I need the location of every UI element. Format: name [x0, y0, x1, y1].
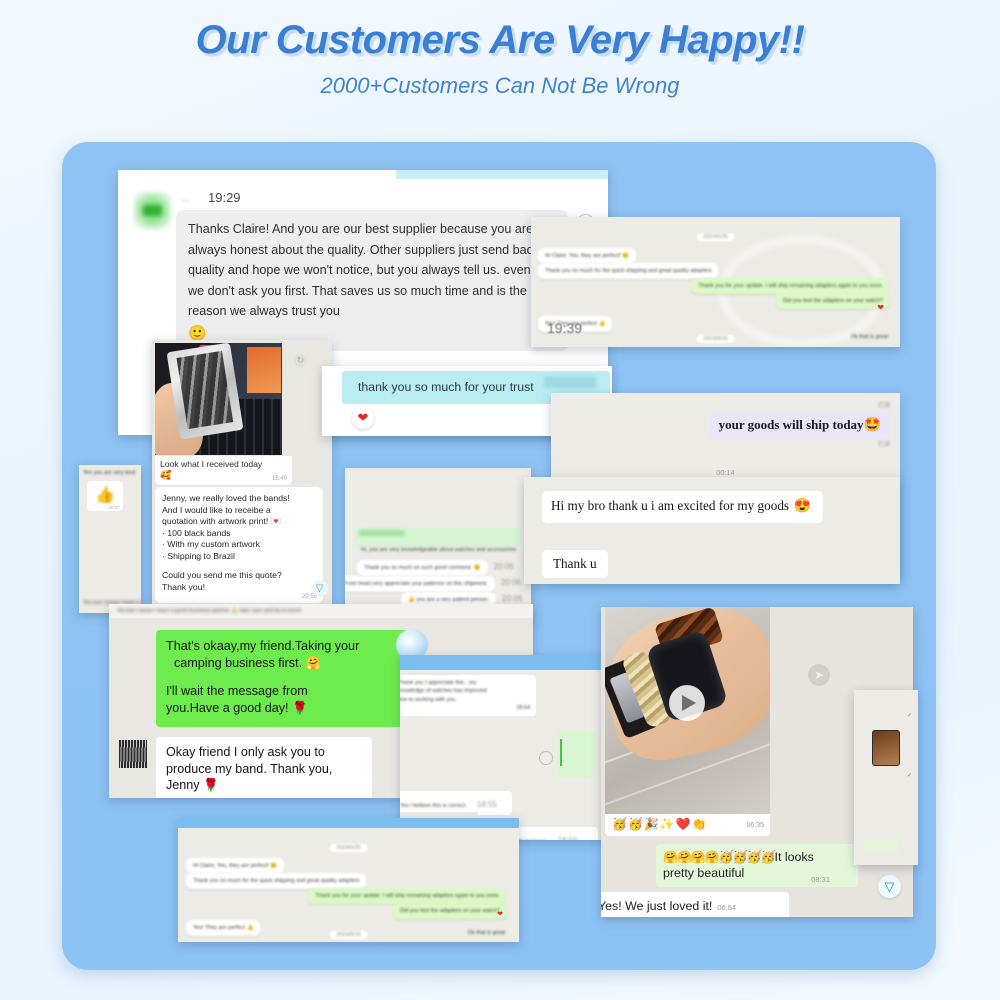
message-line: Thank you I appreciate this - my	[400, 679, 530, 687]
strip-text: Yes but I know I have a good business pa…	[117, 607, 301, 615]
white-line: Jenny 🌹	[166, 777, 362, 794]
page-header: Our Customers Are Very Happy!! 2000+Cust…	[0, 0, 1000, 99]
heart-reaction-icon: ❤	[352, 407, 374, 429]
conversation-timestamp: 00:14	[551, 468, 900, 477]
quote-line: Could you send me this quote?	[162, 570, 316, 582]
message-text: Hi my bro thank u i am excited for my go…	[551, 498, 789, 513]
emoji-caption-bubble: 🥳🥳🎉✨❤️👏 06:35	[605, 814, 770, 836]
incoming-white-bubble: Yes! We just loved it!06:54	[601, 892, 789, 917]
read-receipt: 已读	[878, 439, 890, 448]
message-time: 08:31	[811, 875, 830, 884]
message-time: 20:06	[494, 562, 514, 571]
heart-reaction-icon: ❤	[497, 910, 503, 918]
emoji: 🤩	[864, 418, 881, 433]
lavender-message-bubble: your goods will ship today🤩	[710, 411, 890, 439]
message-text: Yes! We just loved it!	[601, 899, 712, 913]
chat-screenshot-knowledge-improved[interactable]: Thank you I appreciate this - my knowled…	[400, 655, 610, 840]
white-line: Okay friend I only ask you to	[166, 744, 362, 761]
forward-arrow-icon[interactable]: ➤	[808, 664, 830, 686]
quote-line: Jenny, we really loved the bands!	[162, 493, 316, 505]
read-check-icon: ✓	[907, 772, 912, 779]
message-line: due to working with you	[400, 696, 530, 704]
green-line: camping business first. 🤗	[166, 655, 399, 672]
incoming-white-bubble: Okay friend I only ask you to produce my…	[156, 737, 372, 798]
play-icon[interactable]	[669, 685, 705, 721]
message-line: knowledge of watches has improved	[400, 687, 530, 695]
quote-line: quotation with artwork print! 💌	[162, 516, 316, 528]
quote-request-bubble: Jenny, we really loved the bands! And I …	[155, 487, 323, 603]
quote-line: And I would like to receibe a	[162, 505, 316, 517]
date-pill: 2024/6/25	[696, 233, 734, 241]
quote-line: Thank you!	[162, 582, 316, 594]
screen-art	[247, 347, 281, 393]
outgoing-green-bubble: 🤗🤗🤗🤗🥳🥳🥳🥳It looks pretty beautiful 08:31	[656, 844, 858, 887]
caption-time: 15:40	[272, 476, 287, 482]
avatar	[134, 192, 171, 229]
outgoing-message: Ok that is great	[851, 334, 888, 340]
avatar	[119, 740, 147, 768]
read-check-icon: ✓	[907, 712, 912, 719]
video-time: 06:35	[746, 822, 764, 829]
green-text: It looks	[775, 850, 814, 864]
chat-screenshot-thumbs-up[interactable]: Yes you are very kind 👍 20:07 Yes but I …	[79, 465, 141, 613]
green-emojis: 🤗🤗🤗🤗🥳🥳🥳🥳	[663, 850, 775, 864]
page-subtitle: 2000+Customers Can Not Be Wrong	[0, 73, 1000, 99]
message-line: Yes I believe this is correct.	[400, 803, 466, 809]
quote-line: · 100 black bands	[162, 528, 316, 540]
date-pill: 2024/8/15	[696, 335, 734, 343]
cyan-strip	[396, 170, 608, 179]
message-bubble: Thanks Claire! And you are our best supp…	[176, 210, 568, 351]
message-text: thank you so much for your trust	[358, 380, 534, 394]
chat-screenshot-excited-goods[interactable]: Hi my bro thank u i am excited for my go…	[524, 477, 900, 584]
message-time: 19:29	[208, 190, 241, 205]
outgoing-green-bubble: That's okaay,my friend.Taking your campi…	[156, 630, 409, 727]
message-time: 18:56	[557, 836, 577, 840]
photo-caption-bubble: Look what I received today 🥰 15:40	[155, 456, 292, 485]
thumbnail-photo[interactable]	[872, 730, 900, 766]
outgoing-message: Did you test the adapters on your watch?	[776, 293, 890, 309]
redacted-name	[359, 530, 405, 536]
band-package	[167, 343, 244, 439]
date-pill: 2024/6/25	[329, 844, 367, 852]
message-time: 20:07	[109, 505, 121, 510]
emoji-row: 🥳🥳🎉✨❤️👏	[612, 817, 708, 831]
sender-name: ...	[181, 193, 189, 204]
outgoing-message: Ok that is great	[468, 930, 505, 936]
emoji: 😍	[794, 499, 811, 514]
refresh-icon[interactable]	[539, 751, 553, 765]
incoming-message: Yes! They are perfect 👍	[186, 920, 260, 936]
blue-strip	[178, 818, 519, 828]
incoming-message: Hi, you are very knowledgeable about wat…	[361, 547, 516, 553]
message-time: 20:06	[501, 578, 521, 587]
message-text: Thanks Claire! And you are our best supp…	[188, 219, 556, 322]
watch-video-thumbnail[interactable]	[605, 607, 770, 814]
overlay-timestamp: 19:39	[547, 320, 582, 336]
caption-text: Look what I received today	[160, 459, 287, 469]
page-title: Our Customers Are Very Happy!!	[0, 18, 1000, 63]
incoming-bubble: with business 18:56	[508, 827, 598, 840]
read-receipt: 已读	[878, 400, 890, 409]
chat-screenshot-adapters-bottom[interactable]: 2024/6/25 Hi Claire, Yes, they are perfe…	[178, 818, 519, 942]
chat-screenshot-patient-person[interactable]: Hi, you are very knowledgeable about wat…	[345, 468, 531, 624]
caption-emoji: 🥰	[160, 470, 287, 481]
smile-emoji: 🙂	[188, 326, 556, 341]
heart-reaction-icon: ❤	[877, 303, 884, 312]
thumbs-up-icon: 👍	[95, 485, 115, 505]
incoming-bubble: Hi my bro thank u i am excited for my go…	[542, 491, 823, 523]
message-time: 18:55	[477, 800, 497, 809]
received-bands-photo[interactable]	[155, 343, 282, 455]
scroll-down-icon[interactable]: ▽	[878, 875, 901, 898]
chat-screenshot-bands-quote[interactable]: ↻ Look what I received today 🥰 15:40 Jen…	[152, 340, 332, 605]
green-line: I'll wait the message from	[166, 683, 399, 700]
message-text: Thank u	[553, 556, 597, 571]
white-line: produce my band. Thank you,	[166, 761, 362, 778]
green-quote-box	[557, 731, 595, 778]
thumbs-up-bubble: 👍 20:07	[87, 481, 123, 511]
chat-screenshot-right-sliver[interactable]: ✓ ✓	[854, 690, 918, 865]
outgoing-message: Did you test the adapters on your watch?	[393, 903, 507, 919]
quote-line: · With my custom artwork	[162, 539, 316, 551]
message-time: 06:54	[717, 903, 736, 912]
scroll-down-icon[interactable]: ▽	[311, 580, 328, 597]
message-time: 18:54	[400, 704, 530, 712]
blue-strip	[400, 655, 610, 670]
incoming-bubble: Thank you I appreciate this - my knowled…	[400, 675, 536, 716]
green-bubble-fragment	[864, 840, 898, 852]
top-strip: Yes but I know I have a good business pa…	[109, 604, 533, 618]
green-line: you.Have a good day! 🌹	[166, 700, 399, 717]
header-text: Yes you are very kind	[83, 469, 135, 477]
refresh-icon[interactable]: ↻	[294, 354, 307, 367]
green-line: That's okaay,my friend.Taking your	[166, 638, 399, 655]
incoming-bubble: Thank u	[542, 550, 608, 578]
redacted-name	[544, 376, 596, 388]
date-pill: 2024/8/15	[329, 931, 367, 939]
quote-line: · Shipping to Brazil	[162, 551, 316, 563]
message-text: your goods will ship today	[719, 417, 864, 432]
chat-screenshot-adapters-top[interactable]: 2024/6/25 Hi Claire, Yes, they are perfe…	[531, 217, 900, 347]
